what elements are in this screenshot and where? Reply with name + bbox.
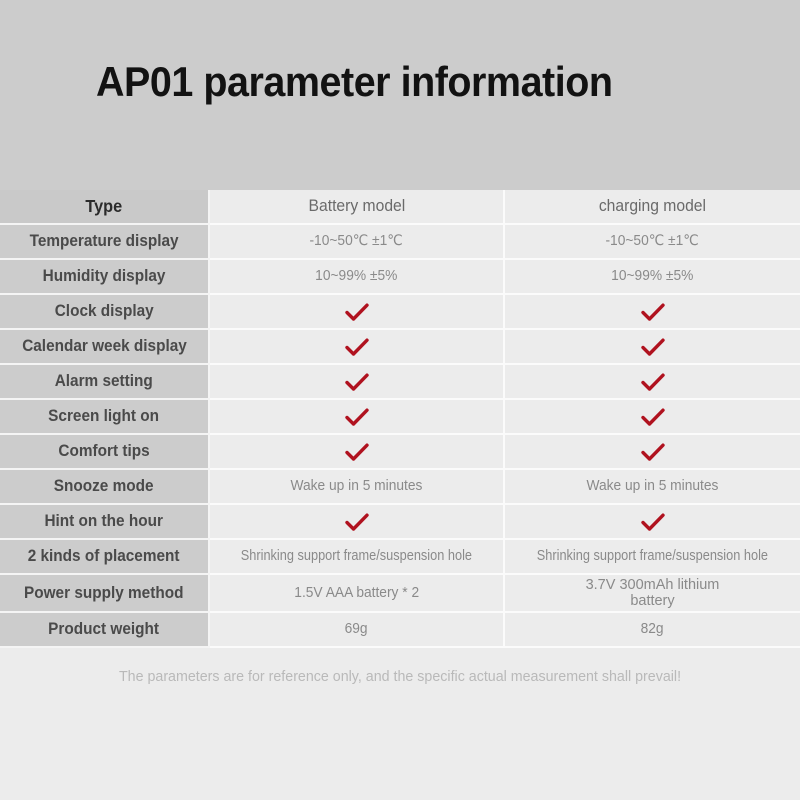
row-label-text: Humidity display (43, 267, 166, 286)
table-cell-charging: 3.7V 300mAh lithiumbattery (505, 575, 800, 613)
specification-table: TypeBattery modelcharging modelTemperatu… (0, 190, 800, 648)
check-icon (344, 337, 370, 357)
table-header-battery-model: Battery model (210, 190, 505, 225)
cell-text-line-1: 3.7V 300mAh lithium (586, 577, 720, 593)
cell-text: -10~50℃ ±1℃ (310, 233, 403, 250)
cell-text: 10~99% ±5% (611, 268, 693, 285)
table-header-charging-model: charging model (505, 190, 800, 225)
table-cell-battery: Wake up in 5 minutes (210, 470, 505, 505)
table-cell-charging: -10~50℃ ±1℃ (505, 225, 800, 260)
table-row: Humidity display10~99% ±5%10~99% ±5% (0, 260, 800, 295)
table-cell-charging (505, 330, 800, 365)
cell-text-line-2: battery (630, 593, 674, 609)
row-label-text: Screen light on (49, 407, 160, 426)
table-cell-battery: -10~50℃ ±1℃ (210, 225, 505, 260)
table-cell-charging: Wake up in 5 minutes (505, 470, 800, 505)
check-icon (640, 442, 666, 462)
table-cell-battery (210, 295, 505, 330)
row-label-text: 2 kinds of placement (28, 547, 180, 566)
table-cell-label: Power supply method (0, 575, 210, 613)
table-row: Snooze modeWake up in 5 minutesWake up i… (0, 470, 800, 505)
table-cell-charging (505, 365, 800, 400)
spec-sheet-page: AP01 parameter information TypeBattery m… (0, 0, 800, 800)
table-cell-charging (505, 505, 800, 540)
cell-text: 82g (641, 621, 664, 638)
header-label-text: Battery model (308, 197, 405, 216)
table-cell-battery (210, 435, 505, 470)
table-cell-label: 2 kinds of placement (0, 540, 210, 575)
page-title: AP01 parameter information (96, 58, 613, 106)
table-cell-charging (505, 295, 800, 330)
check-icon (640, 337, 666, 357)
table-cell-battery (210, 365, 505, 400)
table-row: 2 kinds of placementShrinking support fr… (0, 540, 800, 575)
table-cell-label: Humidity display (0, 260, 210, 295)
table-header-row: TypeBattery modelcharging model (0, 190, 800, 225)
table-cell-battery: 1.5V AAA battery * 2 (210, 575, 505, 613)
check-icon (344, 512, 370, 532)
row-label-text: Alarm setting (55, 372, 153, 391)
table-cell-battery (210, 400, 505, 435)
check-icon (640, 372, 666, 392)
table-cell-battery: 69g (210, 613, 505, 648)
row-label-text: Clock display (55, 302, 154, 321)
cell-text: 69g (345, 621, 368, 638)
table-header-type: Type (0, 190, 210, 225)
table-cell-battery (210, 505, 505, 540)
table-row: Hint on the hour (0, 505, 800, 540)
check-icon (344, 302, 370, 322)
table-cell-label: Calendar week display (0, 330, 210, 365)
check-icon (344, 407, 370, 427)
cell-text: 10~99% ±5% (315, 268, 397, 285)
table-cell-battery (210, 330, 505, 365)
cell-text: Shrinking support frame/suspension hole (241, 548, 472, 565)
check-icon (640, 302, 666, 322)
row-label-text: Snooze mode (54, 477, 154, 496)
row-label-text: Comfort tips (58, 442, 149, 461)
table-cell-charging: 10~99% ±5% (505, 260, 800, 295)
header-label-text: charging model (599, 197, 706, 216)
table-cell-label: Screen light on (0, 400, 210, 435)
table-cell-label: Snooze mode (0, 470, 210, 505)
header-label-text: Type (86, 196, 123, 216)
table-cell-charging: 82g (505, 613, 800, 648)
table-cell-label: Comfort tips (0, 435, 210, 470)
table-cell-charging: Shrinking support frame/suspension hole (505, 540, 800, 575)
cell-text: Wake up in 5 minutes (291, 478, 423, 495)
check-icon (640, 407, 666, 427)
table-cell-charging (505, 400, 800, 435)
table-cell-charging (505, 435, 800, 470)
cell-text: Wake up in 5 minutes (587, 478, 719, 495)
check-icon (640, 512, 666, 532)
check-icon (344, 442, 370, 462)
footer-disclaimer: The parameters are for reference only, a… (20, 668, 780, 685)
cell-text: Shrinking support frame/suspension hole (537, 548, 768, 565)
table-cell-label: Hint on the hour (0, 505, 210, 540)
table-cell-battery: Shrinking support frame/suspension hole (210, 540, 505, 575)
row-label-text: Calendar week display (22, 337, 187, 356)
table-row: Comfort tips (0, 435, 800, 470)
cell-text: -10~50℃ ±1℃ (606, 233, 699, 250)
table-row: Temperature display-10~50℃ ±1℃-10~50℃ ±1… (0, 225, 800, 260)
table-cell-label: Temperature display (0, 225, 210, 260)
row-label-text: Temperature display (30, 232, 179, 251)
table-cell-label: Alarm setting (0, 365, 210, 400)
table-cell-label: Clock display (0, 295, 210, 330)
title-area: AP01 parameter information (0, 0, 800, 190)
table-row: Product weight69g82g (0, 613, 800, 648)
table-cell-label: Product weight (0, 613, 210, 648)
table-cell-battery: 10~99% ±5% (210, 260, 505, 295)
row-label-text: Product weight (49, 620, 160, 639)
table-row: Screen light on (0, 400, 800, 435)
cell-text: 1.5V AAA battery * 2 (294, 585, 419, 602)
row-label-text: Hint on the hour (45, 512, 163, 531)
row-label-text: Power supply method (24, 584, 183, 603)
table-row: Alarm setting (0, 365, 800, 400)
check-icon (344, 372, 370, 392)
table-row: Clock display (0, 295, 800, 330)
table-row: Power supply method1.5V AAA battery * 23… (0, 575, 800, 613)
table-row: Calendar week display (0, 330, 800, 365)
